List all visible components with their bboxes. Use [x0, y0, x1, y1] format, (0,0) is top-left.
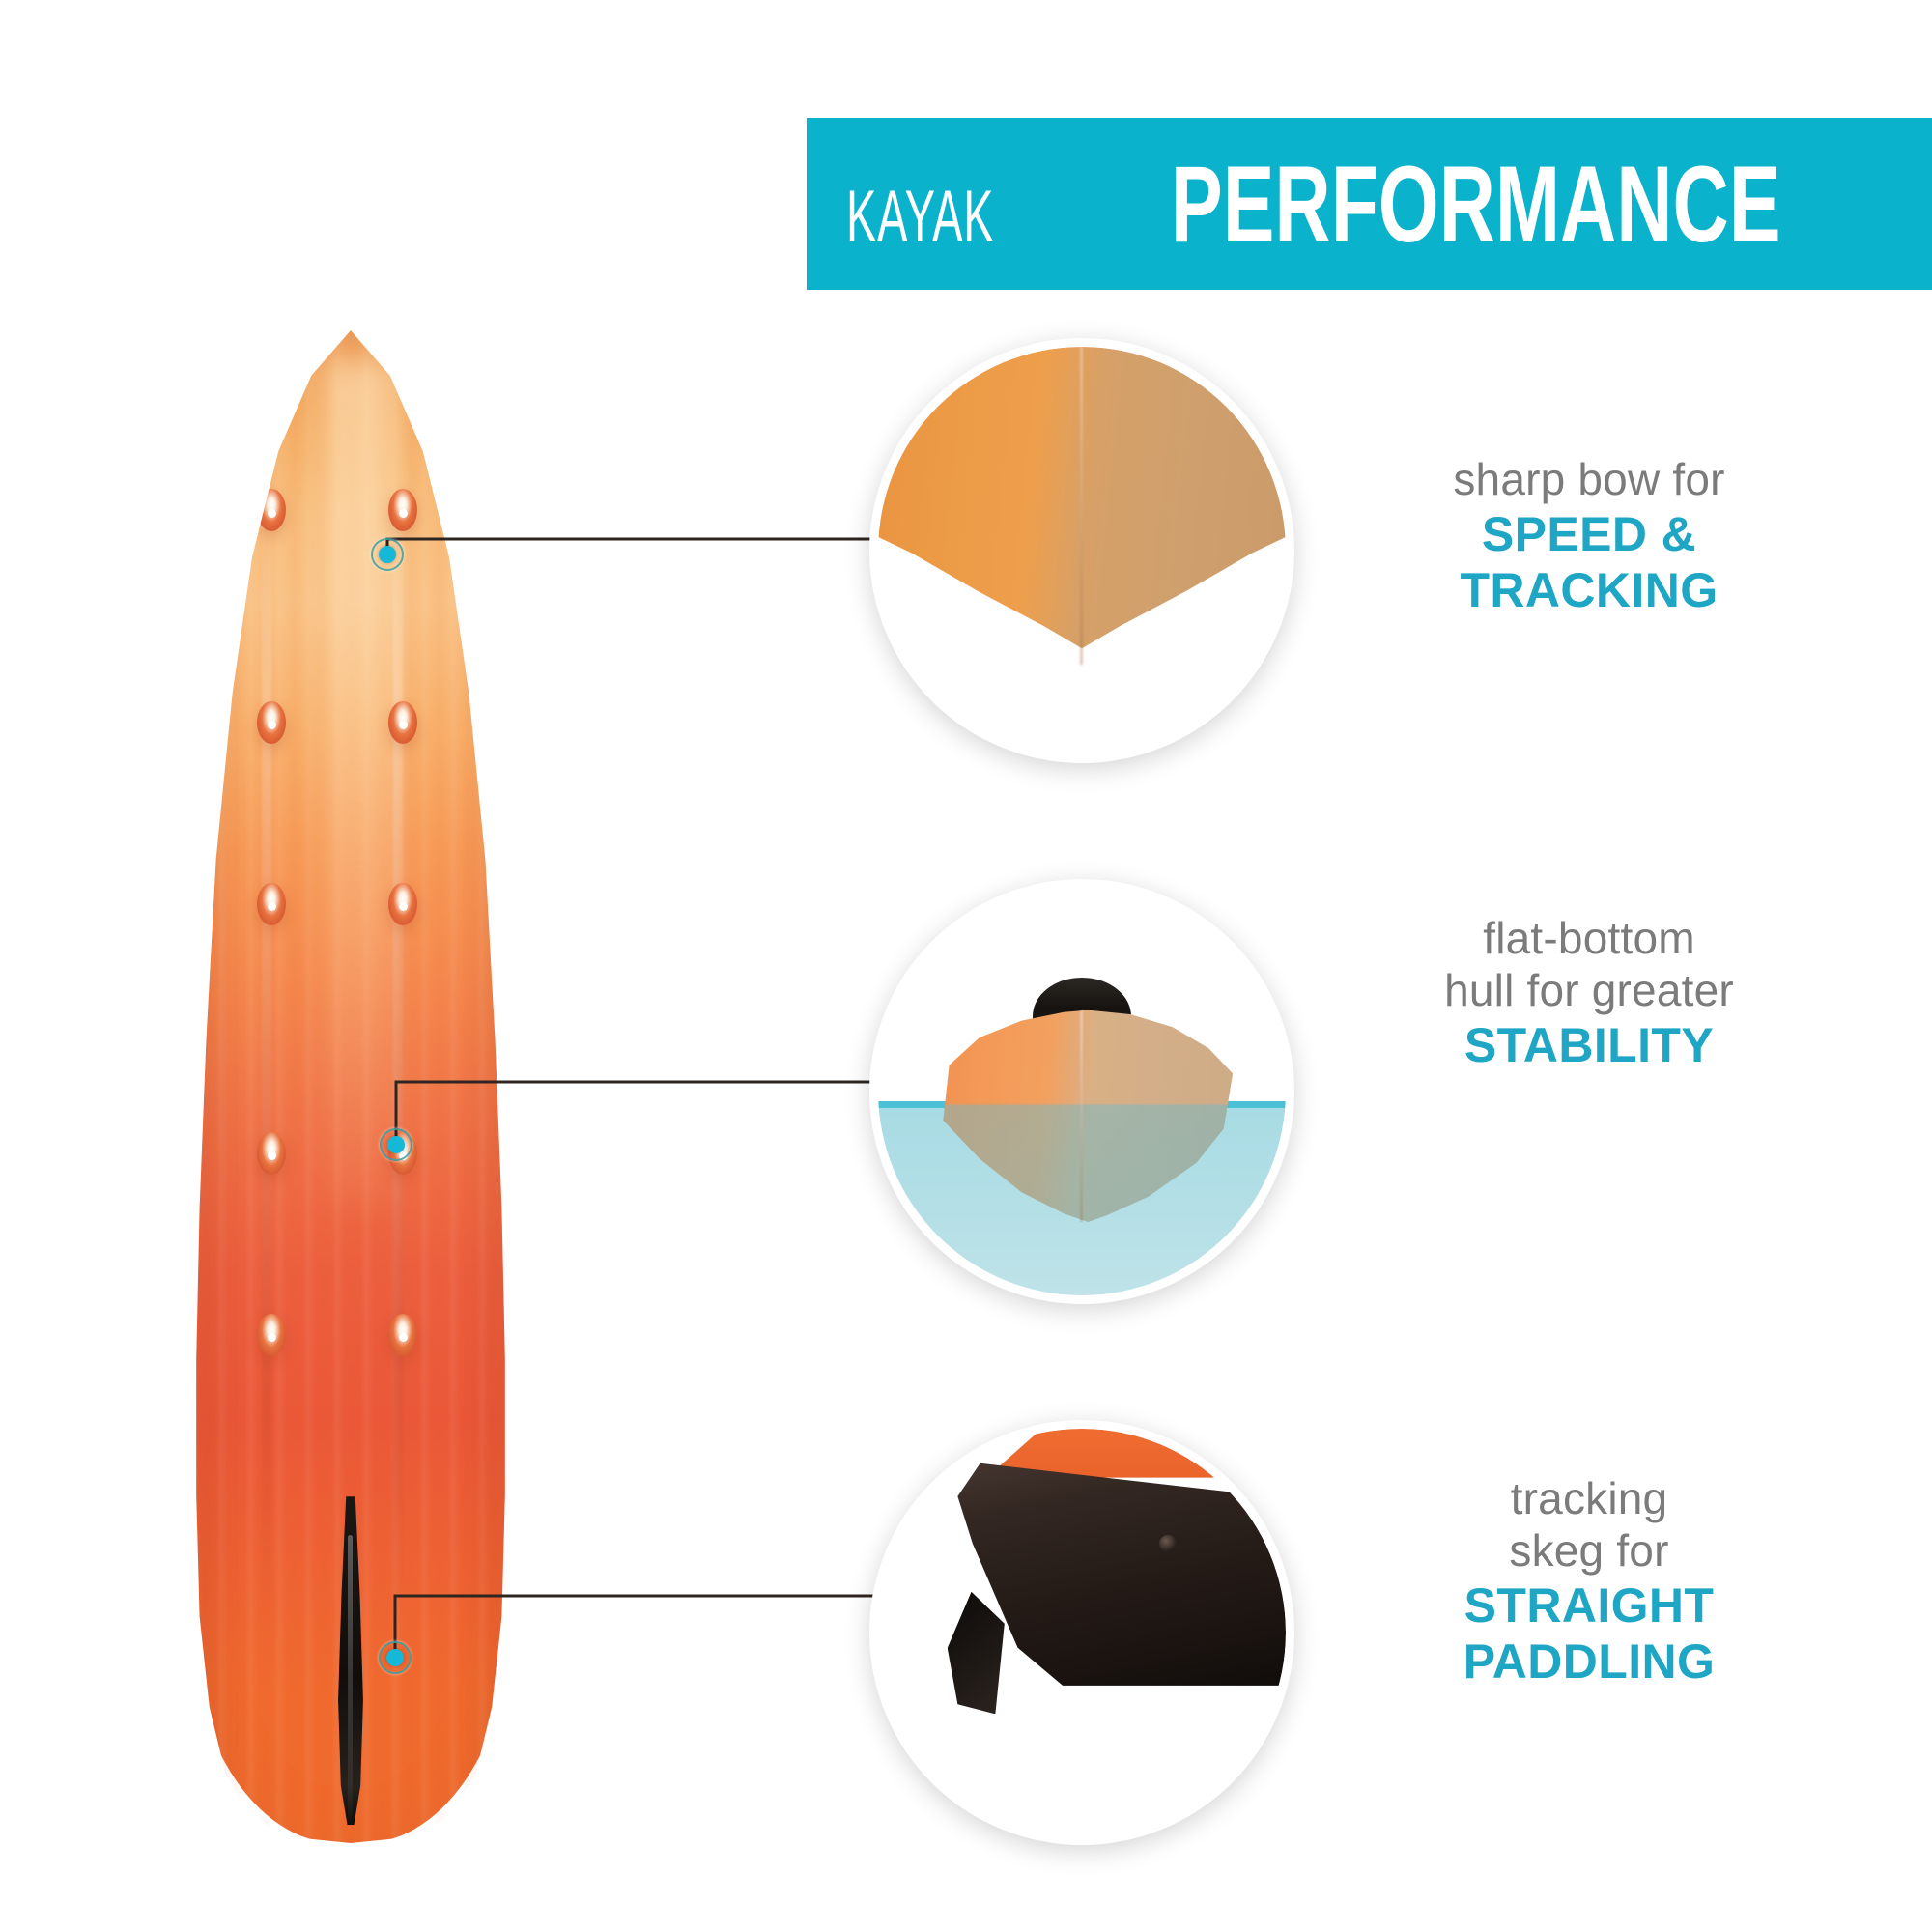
- callout-image-flat-bottom-hull: [878, 888, 1286, 1295]
- skeg-gloss-highlight: [348, 1535, 353, 1825]
- marker-dot-sharp-bow[interactable]: [371, 538, 404, 571]
- banner-title-wrap: KAYAK PERFORMANCE: [807, 142, 1899, 267]
- keel-ridge-left: [262, 497, 271, 1616]
- keel-ridge-right: [393, 497, 403, 1616]
- marker-dot-flat-bottom-hull[interactable]: [380, 1128, 412, 1161]
- header-banner: KAYAK PERFORMANCE: [807, 118, 1932, 290]
- hull-center-highlight: [325, 360, 397, 1207]
- callout-image-sharp-bow: [878, 347, 1286, 754]
- callout-label-flat-bottom-hull: flat-bottom hull for greater STABILITY: [1348, 913, 1831, 1073]
- infographic-canvas: KAYAK PERFORMANCE: [0, 0, 1932, 1932]
- drain-plug: [257, 1314, 286, 1356]
- label-plain-line: tracking: [1352, 1473, 1826, 1525]
- label-strong-line: STABILITY: [1348, 1017, 1831, 1074]
- label-strong-line: PADDLING: [1352, 1634, 1826, 1690]
- callout-label-sharp-bow: sharp bow for SPEED & TRACKING: [1352, 454, 1826, 619]
- skeg-screw: [1159, 1535, 1177, 1552]
- kayak-hull-illustration: [186, 330, 515, 1843]
- callout-circle-flat-bottom-hull: [869, 879, 1294, 1304]
- marker-core: [387, 1136, 405, 1153]
- marker-core: [379, 546, 396, 563]
- drain-plug: [388, 1314, 417, 1356]
- drain-plug: [388, 701, 417, 744]
- hull-left-shading: [193, 391, 240, 1783]
- banner-prefix-kayak: KAYAK: [846, 175, 994, 259]
- callout-circle-sharp-bow: [869, 338, 1294, 763]
- drain-plug: [257, 489, 286, 531]
- label-plain-line: hull for greater: [1348, 965, 1831, 1017]
- hull-above-skeg: [919, 1429, 1286, 1478]
- skeg-notch: [948, 1592, 1005, 1715]
- marker-dot-tracking-skeg[interactable]: [379, 1641, 412, 1674]
- callout-circle-tracking-skeg: [869, 1420, 1294, 1845]
- label-plain-line: sharp bow for: [1352, 454, 1826, 506]
- drain-plug: [257, 1132, 286, 1175]
- drain-plug: [257, 883, 286, 925]
- marker-core: [386, 1649, 404, 1666]
- label-plain-line: flat-bottom: [1348, 913, 1831, 965]
- label-strong-line: SPEED &: [1352, 506, 1826, 563]
- bow-center-crease: [1080, 347, 1083, 665]
- label-strong-line: STRAIGHT: [1352, 1577, 1826, 1634]
- page-title: PERFORMANCE: [1170, 142, 1780, 267]
- callout-label-tracking-skeg: tracking skeg for STRAIGHT PADDLING: [1352, 1473, 1826, 1690]
- drain-plug: [388, 489, 417, 531]
- drain-plug: [257, 701, 286, 744]
- label-plain-line: skeg for: [1352, 1525, 1826, 1577]
- drain-plug: [388, 883, 417, 925]
- hull-center-crease: [1080, 1010, 1083, 1222]
- callout-image-tracking-skeg: [878, 1429, 1286, 1836]
- hull-right-shading: [463, 391, 509, 1783]
- label-strong-line: TRACKING: [1352, 562, 1826, 619]
